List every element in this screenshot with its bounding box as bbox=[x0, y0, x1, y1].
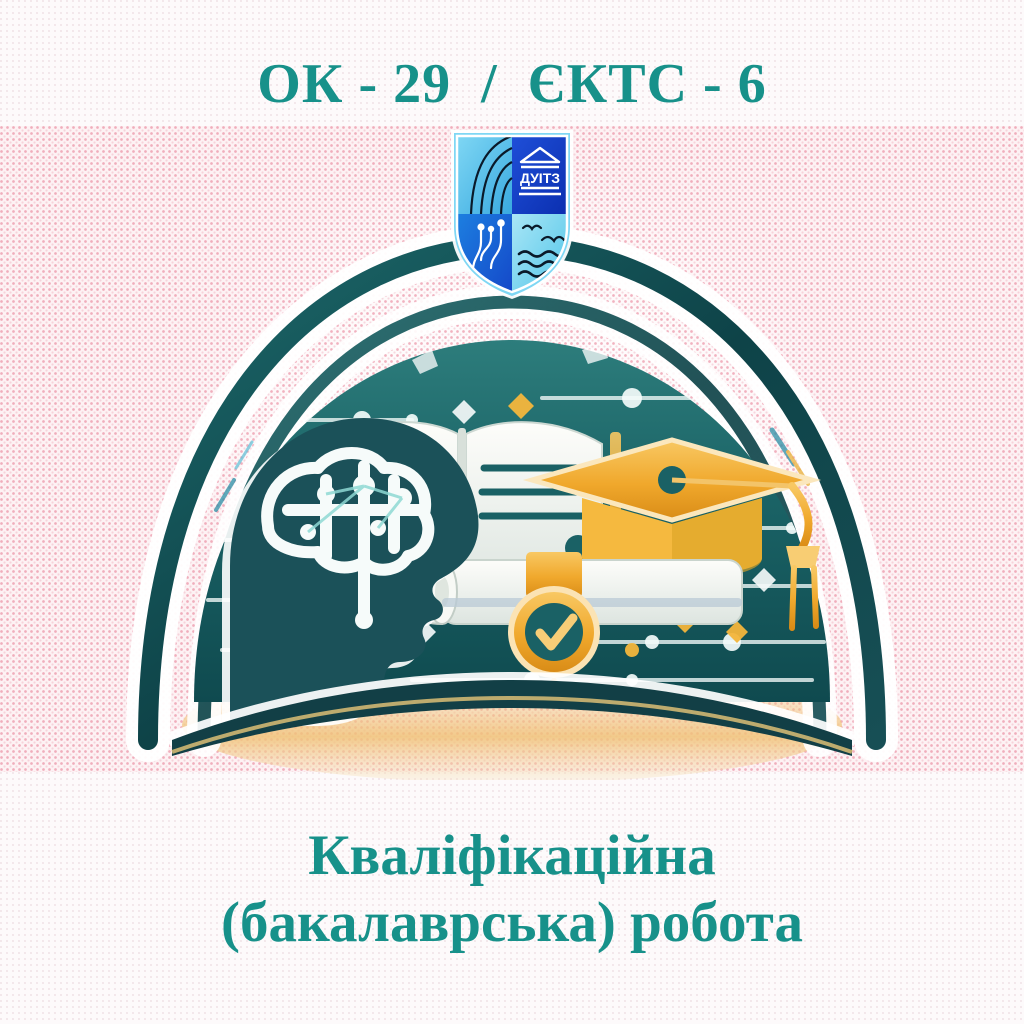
document-type-line-1: Кваліфікаційна bbox=[0, 822, 1024, 889]
university-emblem: ДУІТЗ bbox=[443, 122, 581, 302]
cap-tassel bbox=[786, 546, 820, 632]
document-type-line-2: (бакалаврська) робота bbox=[0, 889, 1024, 956]
poster-root: ОК - 29 / ЄКТС - 6 bbox=[0, 0, 1024, 1024]
emblem-abbreviation: ДУІТЗ bbox=[520, 170, 560, 186]
page-title: ОК - 29 / ЄКТС - 6 bbox=[0, 56, 1024, 112]
document-type-title: Кваліфікаційна (бакалаврська) робота bbox=[0, 822, 1024, 957]
